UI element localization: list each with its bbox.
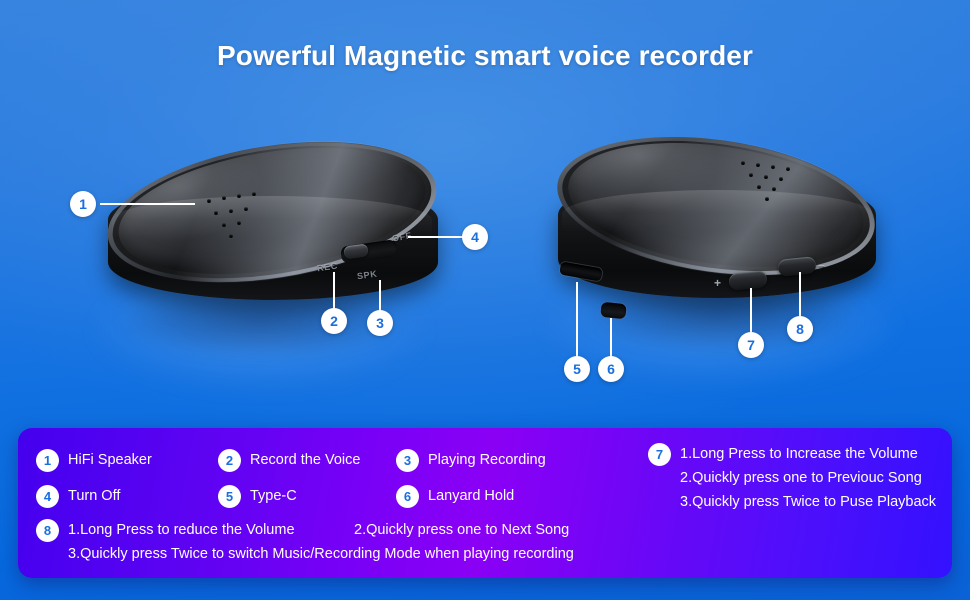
callout-8: 8 (787, 316, 813, 342)
legend-label-4: Turn Off (68, 488, 120, 504)
callout-3: 3 (367, 310, 393, 336)
legend-label-2: Record the Voice (250, 452, 360, 468)
legend-label-7-line-3: 3.Quickly press Twice to Puse Playback (680, 490, 936, 514)
leader-line-8 (799, 272, 801, 316)
legend-label-6: Lanyard Hold (428, 488, 514, 504)
legend-item-8-head: 8 1.Long Press to reduce the Volume 2.Qu… (36, 518, 656, 542)
leader-line-3 (379, 280, 381, 312)
leader-line-4 (408, 236, 465, 238)
legend-panel: 1 HiFi Speaker 2 Record the Voice 3 Play… (18, 428, 952, 578)
leader-line-5 (576, 282, 578, 358)
legend-number-2: 2 (218, 449, 241, 472)
callout-5: 5 (564, 356, 590, 382)
legend-item-4: 4 Turn Off (36, 485, 218, 508)
volume-up-sign: + (714, 276, 721, 290)
legend-item-7: 7 1.Long Press to Increase the Volume 2.… (648, 442, 936, 514)
legend-label-8-line-2: 3.Quickly press Twice to switch Music/Re… (68, 542, 656, 566)
legend-item-7-lines: 1.Long Press to Increase the Volume 2.Qu… (680, 442, 936, 514)
product-infographic: Powerful Magnetic smart voice recorder (0, 0, 970, 600)
legend-label-8-line-1a: 1.Long Press to reduce the Volume (68, 518, 354, 542)
legend-item-1: 1 HiFi Speaker (36, 449, 218, 472)
legend-item-2: 2 Record the Voice (218, 449, 396, 472)
legend-grid: 1 HiFi Speaker 2 Record the Voice 3 Play… (36, 442, 636, 514)
legend-item-8: 8 1.Long Press to reduce the Volume 2.Qu… (36, 518, 656, 566)
callout-7: 7 (738, 332, 764, 358)
page-title: Powerful Magnetic smart voice recorder (0, 40, 970, 72)
legend-label-5: Type-C (250, 488, 297, 504)
legend-label-3: Playing Recording (428, 452, 546, 468)
legend-number-3: 3 (396, 449, 419, 472)
legend-item-3: 3 Playing Recording (396, 449, 596, 472)
leader-line-1 (100, 203, 195, 205)
legend-number-4: 4 (36, 485, 59, 508)
legend-number-5: 5 (218, 485, 241, 508)
legend-row: 1 HiFi Speaker 2 Record the Voice 3 Play… (36, 442, 636, 478)
lanyard-hold (600, 302, 626, 320)
legend-label-8-line-1b: 2.Quickly press one to Next Song (354, 518, 569, 542)
legend-item-6: 6 Lanyard Hold (396, 485, 596, 508)
leader-line-7 (750, 288, 752, 332)
callout-6: 6 (598, 356, 624, 382)
leader-line-6 (610, 318, 612, 358)
callout-4: 4 (462, 224, 488, 250)
volume-down-sign: – (818, 258, 825, 272)
legend-label-7-line-1: 1.Long Press to Increase the Volume (680, 442, 936, 466)
legend-item-5: 5 Type-C (218, 485, 396, 508)
legend-label-7-line-2: 2.Quickly press one to Previouc Song (680, 466, 936, 490)
legend-label-1: HiFi Speaker (68, 452, 152, 468)
legend-number-1: 1 (36, 449, 59, 472)
leader-line-2 (333, 272, 335, 310)
legend-number-6: 6 (396, 485, 419, 508)
callout-2: 2 (321, 308, 347, 334)
legend-row: 4 Turn Off 5 Type-C 6 Lanyard Hold (36, 478, 636, 514)
legend-number-8: 8 (36, 519, 59, 542)
callout-1: 1 (70, 191, 96, 217)
legend-number-7: 7 (648, 443, 671, 466)
